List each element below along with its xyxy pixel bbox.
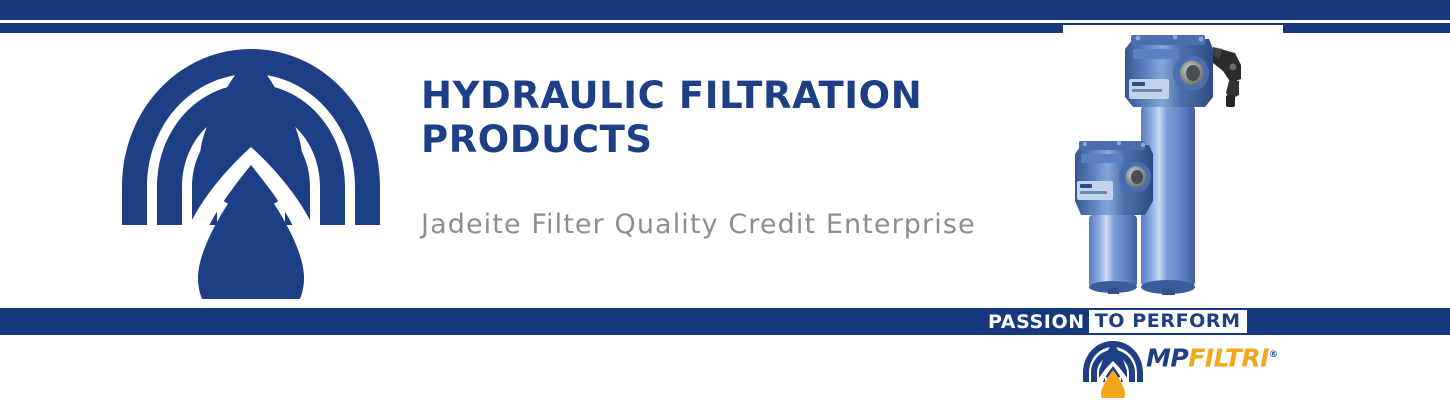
page-title-line-2: PRODUCTS [421,118,1041,162]
hydraulic-filter-housings-photo [1063,25,1283,308]
page-banner: HYDRAULIC FILTRATION PRODUCTS Jadeite Fi… [0,0,1450,400]
mpfiltri-droplet-mark [1082,340,1144,398]
headline-block: HYDRAULIC FILTRATION PRODUCTS [421,74,1041,162]
mpfiltri-word-mp: MP [1146,343,1188,372]
top-rule-primary [0,0,1450,20]
tagline-word-passion: PASSION [988,311,1089,333]
brand-droplet-logo [120,47,382,299]
tagline-word-to-perform: TO PERFORM [1089,310,1247,333]
page-title-line-1: HYDRAULIC FILTRATION [421,74,1041,118]
mpfiltri-logo: MPFILTRI® [1082,340,1272,398]
tagline-passion-to-perform: PASSION TO PERFORM [988,310,1247,333]
mpfiltri-word-filtri: FILTRI [1188,343,1269,372]
registered-trademark-icon: ® [1269,350,1278,360]
mpfiltri-wordmark: MPFILTRI® [1146,342,1277,371]
page-subtitle: Jadeite Filter Quality Credit Enterprise [421,208,976,242]
